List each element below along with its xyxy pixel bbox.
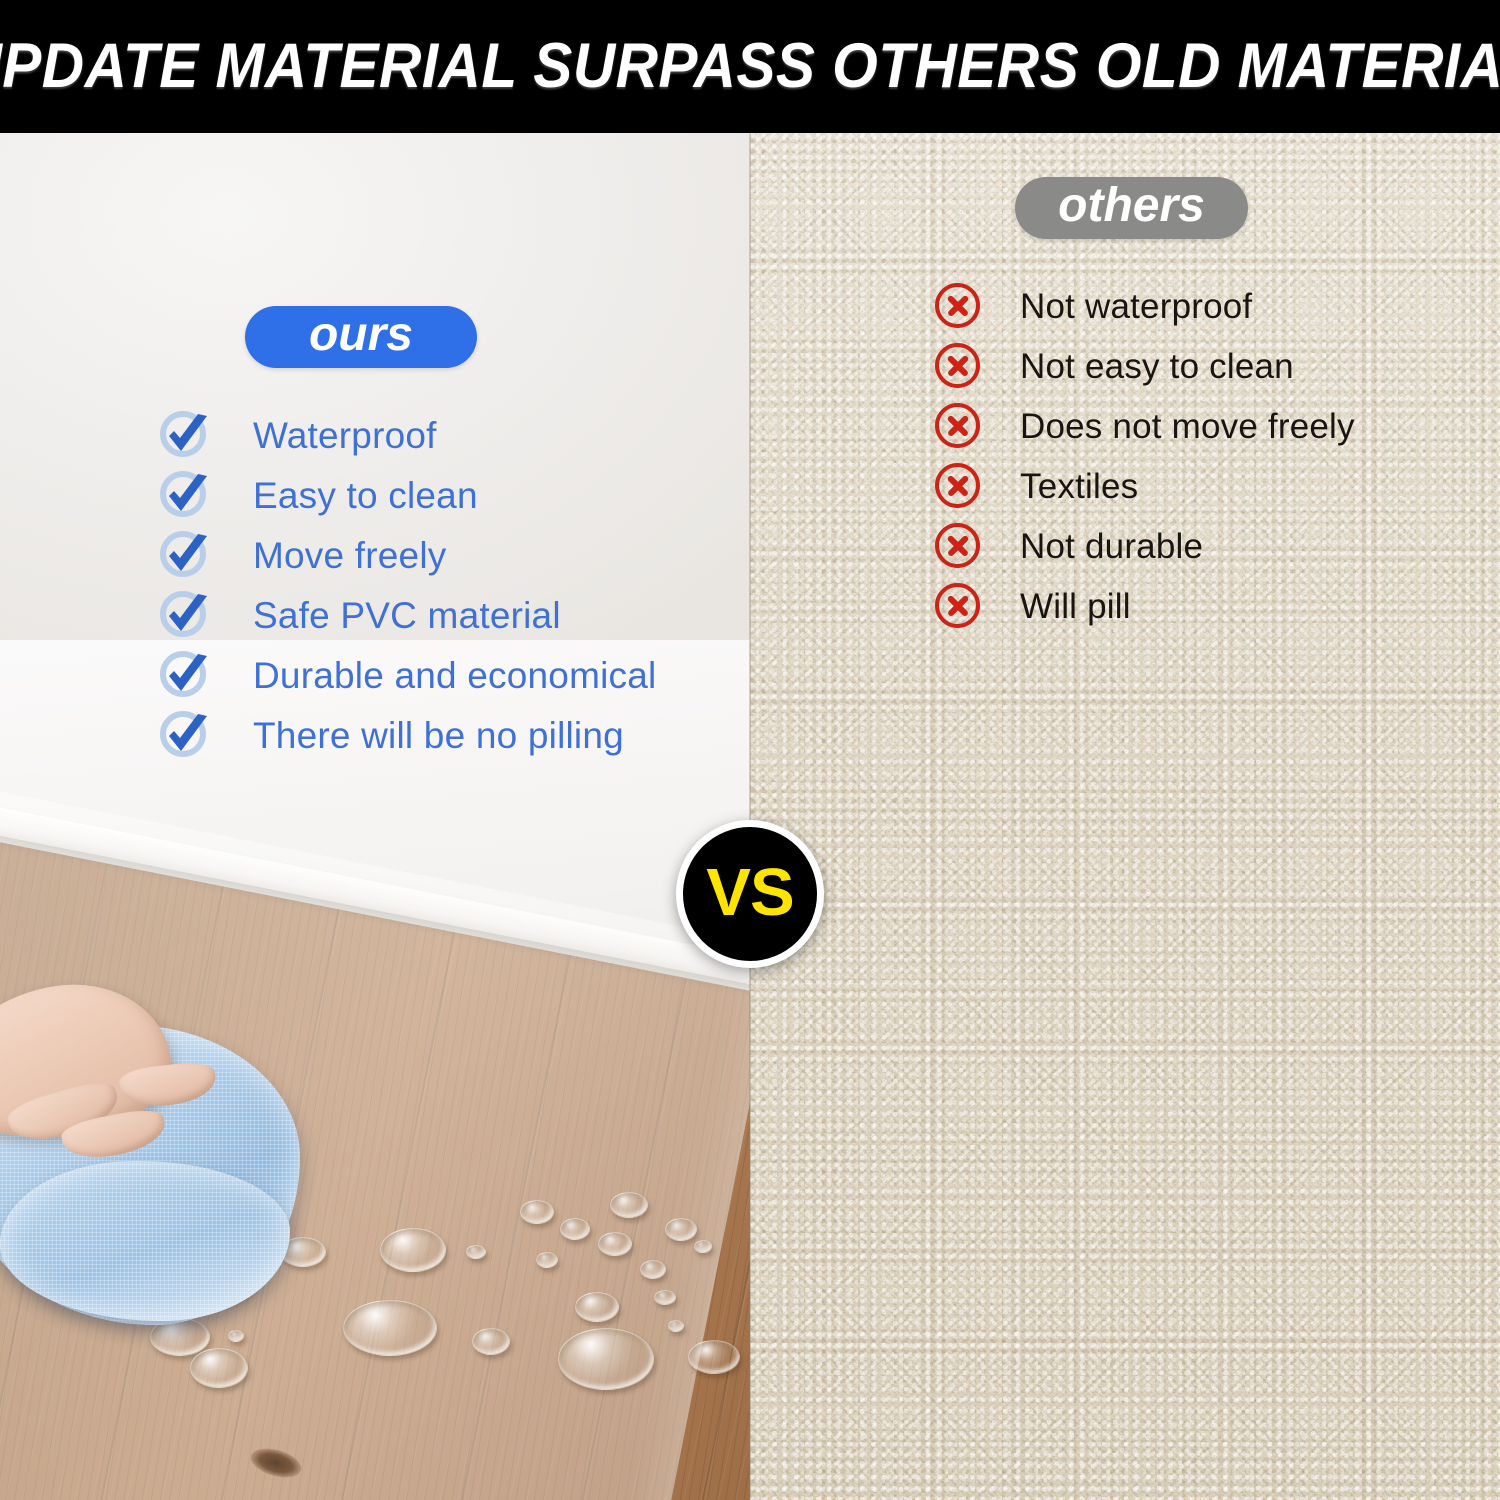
x-circle-icon	[934, 342, 982, 390]
check-circle-icon	[158, 649, 211, 702]
badge-others: others	[1015, 177, 1248, 239]
water-droplet	[536, 1252, 558, 1268]
x-circle-icon	[934, 522, 982, 570]
feature-row: Safe PVC material	[158, 585, 656, 645]
water-droplet	[466, 1245, 486, 1259]
feature-row: Waterproof	[158, 405, 656, 465]
feature-label: Will pill	[1020, 589, 1131, 624]
water-droplet	[598, 1232, 632, 1256]
water-droplet	[520, 1200, 554, 1224]
feature-label: Durable and economical	[253, 657, 656, 694]
water-droplet	[575, 1292, 619, 1322]
check-circle-icon	[158, 409, 211, 462]
water-droplet	[560, 1218, 590, 1240]
feature-list-ours: Waterproof Easy to clean M	[158, 405, 656, 765]
feature-row: Move freely	[158, 525, 656, 585]
feature-row: There will be no pilling	[158, 705, 656, 765]
feature-label: Easy to clean	[253, 477, 478, 514]
water-droplet	[343, 1300, 437, 1356]
feature-row: Textiles	[934, 456, 1355, 516]
feature-row: Not easy to clean	[934, 336, 1355, 396]
page-title: UPDATE MATERIAL SURPASS OTHERS OLD MATER…	[0, 35, 1500, 98]
microfiber-cloth-fold	[0, 1161, 290, 1321]
check-circle-icon	[158, 589, 211, 642]
feature-row: Easy to clean	[158, 465, 656, 525]
check-circle-icon	[158, 529, 211, 582]
water-droplet	[665, 1218, 697, 1241]
feature-row: Does not move freely	[934, 396, 1355, 456]
badge-others-label: others	[1058, 182, 1205, 230]
x-circle-icon	[934, 582, 982, 630]
feature-label: Not waterproof	[1020, 289, 1252, 324]
feature-list-others: Not waterproof Not easy to clean Does no…	[934, 276, 1355, 636]
feature-row: Durable and economical	[158, 645, 656, 705]
left-product-photo	[0, 640, 750, 1500]
header-bar: UPDATE MATERIAL SURPASS OTHERS OLD MATER…	[0, 0, 1500, 133]
vs-label: VS	[706, 859, 793, 930]
feature-row: Not waterproof	[934, 276, 1355, 336]
water-droplet	[694, 1240, 712, 1253]
water-droplet	[640, 1260, 666, 1279]
comparison-infographic: UPDATE MATERIAL SURPASS OTHERS OLD MATER…	[0, 0, 1500, 1500]
feature-row: Will pill	[934, 576, 1355, 636]
feature-label: There will be no pilling	[253, 717, 624, 754]
vs-badge: VS	[676, 820, 824, 968]
hand-with-cloth	[0, 975, 330, 1375]
water-droplet	[688, 1340, 740, 1374]
feature-label: Safe PVC material	[253, 597, 561, 634]
feature-row: Not durable	[934, 516, 1355, 576]
water-droplet	[472, 1328, 510, 1355]
x-circle-icon	[934, 282, 982, 330]
feature-label: Textiles	[1020, 469, 1138, 504]
check-circle-icon	[158, 469, 211, 522]
water-droplet	[668, 1320, 684, 1332]
panel-divider	[749, 133, 751, 1500]
water-droplet	[610, 1192, 648, 1218]
feature-label: Not durable	[1020, 529, 1203, 564]
panel-ours: ours Waterproof Easy t	[0, 133, 750, 1500]
feature-label: Not easy to clean	[1020, 349, 1294, 384]
feature-label: Move freely	[253, 537, 446, 574]
x-circle-icon	[934, 462, 982, 510]
check-circle-icon	[158, 709, 211, 762]
feature-label: Waterproof	[253, 417, 437, 454]
panel-others: others Not waterproof Not easy to clean	[750, 133, 1500, 1500]
water-droplet	[558, 1328, 654, 1390]
badge-ours: ours	[245, 306, 477, 368]
badge-ours-label: ours	[309, 311, 413, 359]
water-droplet	[654, 1290, 676, 1305]
water-droplet	[380, 1228, 446, 1272]
x-circle-icon	[934, 402, 982, 450]
feature-label: Does not move freely	[1020, 409, 1355, 444]
